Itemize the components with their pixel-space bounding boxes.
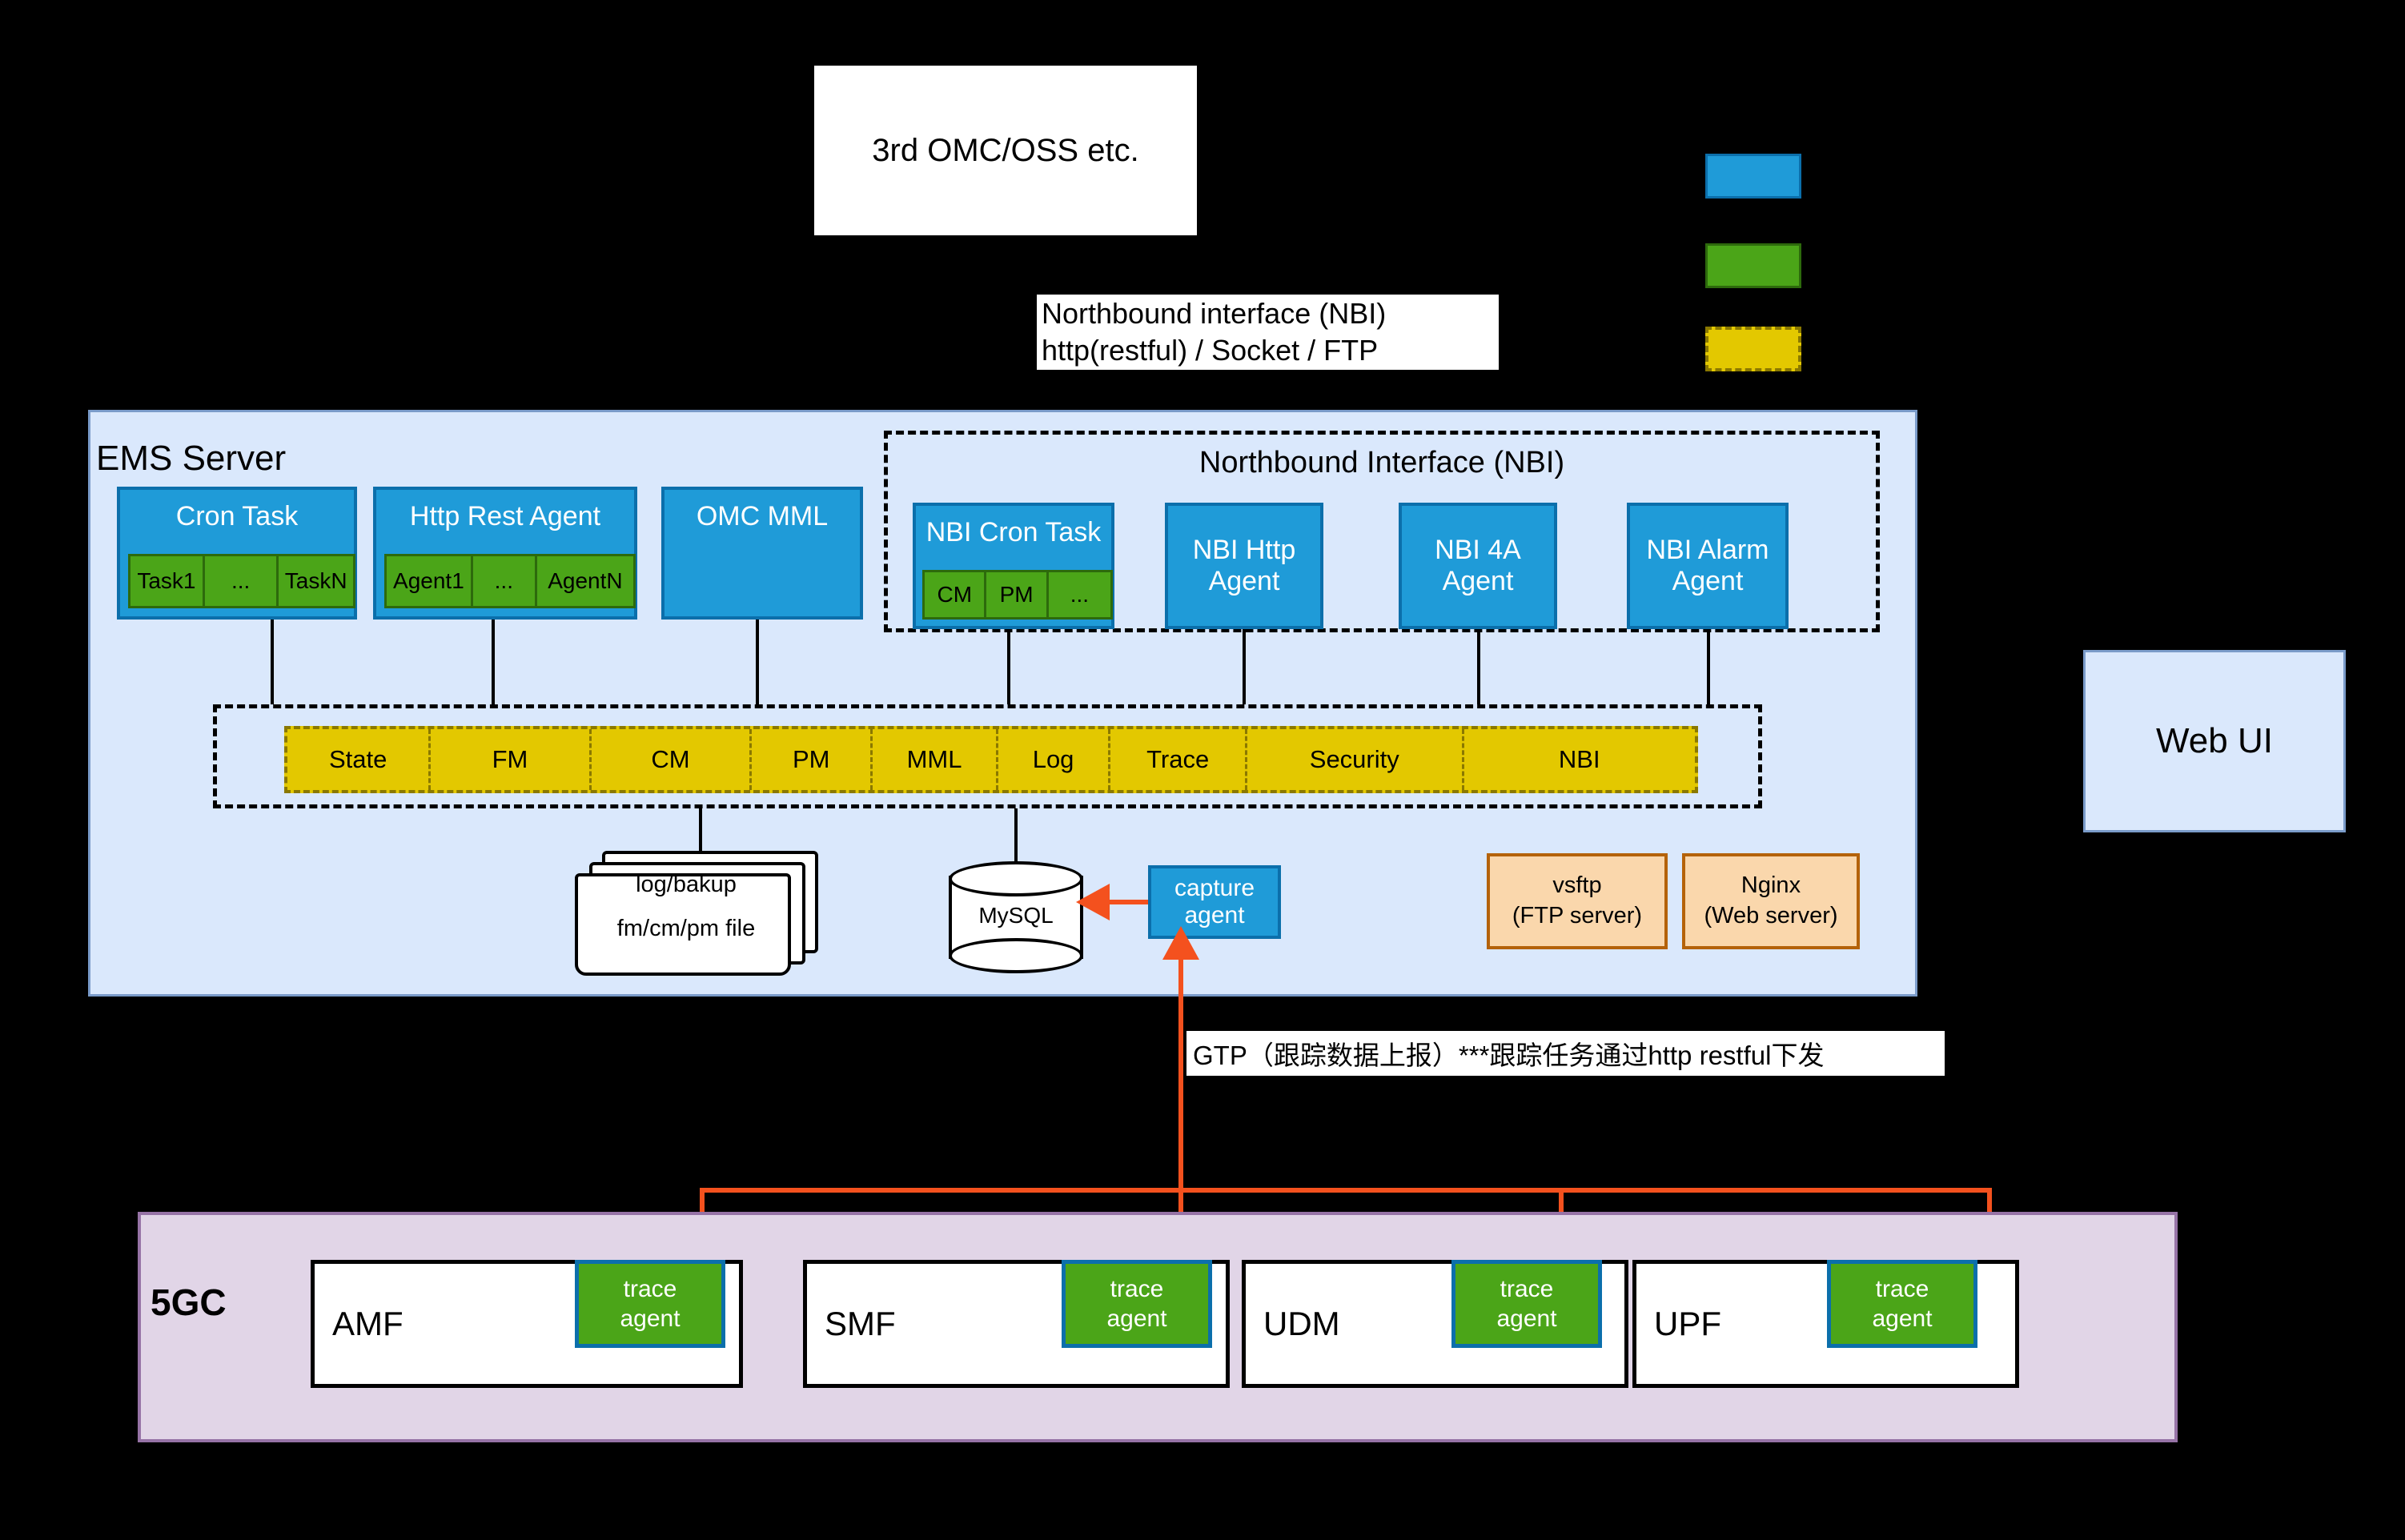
nbi-protocol-line2: http(restful) / Socket / FTP [1042, 332, 1378, 369]
capture-agent-line1: capture [1174, 875, 1255, 902]
component-nbi-http-agent-title-line2: Agent [1168, 566, 1320, 597]
cron-task-cell[interactable]: TaskN [279, 556, 353, 606]
http-rest-agent-cells: Agent1 ... AgentN [384, 554, 636, 608]
nginx-name: Nginx [1741, 871, 1801, 901]
file-storage-line2: fm/cm/pm file [617, 916, 755, 942]
file-storage-line1: log/bakup [636, 872, 737, 898]
capture-agent-line2: agent [1184, 902, 1244, 929]
service-cell-trace[interactable]: Trace [1110, 729, 1247, 790]
service-bus: State FM CM PM MML Log Trace Security NB… [284, 726, 1698, 793]
component-cron-task[interactable]: Cron Task Task1 ... TaskN [117, 487, 357, 620]
component-omc-mml[interactable]: OMC MML [661, 487, 863, 620]
cron-task-cell[interactable]: ... [205, 556, 279, 606]
web-ui-label: Web UI [2156, 721, 2273, 761]
legend-swatch-blue [1705, 154, 1801, 199]
http-rest-agent-cell[interactable]: AgentN [537, 556, 633, 606]
connector-nbi-http-agent-to-bus [1243, 629, 1246, 704]
trace-agent-line2: agent [1496, 1304, 1556, 1334]
http-rest-agent-cell[interactable]: Agent1 [387, 556, 473, 606]
connector-omcoss-to-nbi [1004, 235, 1007, 295]
component-nbi-alarm-agent[interactable]: NBI Alarm Agent [1627, 503, 1789, 629]
connector-bus-to-file-storage [699, 808, 702, 853]
ems-server-title: EMS Server [96, 439, 286, 479]
gtp-annotation: GTP（跟踪数据上报）***跟踪任务通过http restful下发 [1186, 1031, 1945, 1076]
vsftp-name: vsftp [1552, 871, 1601, 901]
trace-agent-line1: trace [1110, 1274, 1164, 1305]
third-party-omc-oss-box: 3rd OMC/OSS etc. [814, 66, 1197, 235]
service-cell-security[interactable]: Security [1247, 729, 1464, 790]
component-nbi-http-agent[interactable]: NBI Http Agent [1165, 503, 1323, 629]
trace-agent-line2: agent [1106, 1304, 1166, 1334]
cron-task-cell[interactable]: Task1 [130, 556, 205, 606]
component-nbi-alarm-agent-title-line2: Agent [1630, 566, 1785, 597]
trace-agent-upf[interactable]: trace agent [1827, 1260, 1977, 1348]
trace-agent-line2: agent [620, 1304, 680, 1334]
network-function-udm-label: UDM [1263, 1305, 1340, 1343]
service-bus-container: State FM CM PM MML Log Trace Security NB… [213, 704, 1762, 808]
component-nbi-alarm-agent-title-line1: NBI Alarm [1630, 535, 1785, 566]
arrowhead-capture-to-mysql [1076, 884, 1110, 920]
nbi-cron-task-cell[interactable]: PM [986, 572, 1048, 617]
component-nbi-4a-agent-title-line1: NBI 4A [1402, 535, 1554, 566]
gtp-annotation-text: GTP（跟踪数据上报）***跟踪任务通过http restful下发 [1193, 1034, 1824, 1073]
http-rest-agent-cell[interactable]: ... [473, 556, 537, 606]
arrow-capture-to-mysql [1103, 900, 1150, 904]
web-ui-box[interactable]: Web UI [2083, 650, 2346, 832]
network-function-upf-label: UPF [1654, 1305, 1721, 1343]
connector-nbi-cron-task-to-bus [1007, 629, 1010, 704]
component-nbi-4a-agent[interactable]: NBI 4A Agent [1399, 503, 1557, 629]
trace-agent-line2: agent [1872, 1304, 1932, 1334]
nbi-cron-task-cells: CM PM ... [922, 570, 1113, 620]
mysql-label: MySQL [949, 903, 1083, 928]
legend-swatch-green [1705, 243, 1801, 288]
legend-swatch-gold [1705, 327, 1801, 371]
network-function-smf-label: SMF [825, 1305, 896, 1343]
connector-omc-mml-to-bus [756, 620, 759, 704]
trace-agent-amf[interactable]: trace agent [575, 1260, 725, 1348]
nbi-group-title: Northbound Interface (NBI) [888, 446, 1876, 480]
connector-http-rest-agent-to-bus [492, 620, 495, 704]
trace-agent-line1: trace [624, 1274, 677, 1305]
cron-task-cells: Task1 ... TaskN [128, 554, 355, 608]
orange-bus-horizontal [700, 1188, 1992, 1193]
component-nbi-cron-task-title: NBI Cron Task [916, 517, 1111, 548]
component-omc-mml-title: OMC MML [664, 501, 860, 532]
connector-nbi-alarm-agent-to-bus [1707, 629, 1710, 704]
component-nbi-http-agent-title-line1: NBI Http [1168, 535, 1320, 566]
service-cell-nbi[interactable]: NBI [1464, 729, 1695, 790]
mysql-database: MySQL [949, 861, 1083, 973]
omc-oss-label: 3rd OMC/OSS etc. [872, 133, 1138, 169]
nbi-protocol-callout: Northbound interface (NBI) http(restful)… [1037, 295, 1499, 370]
trace-agent-line1: trace [1500, 1274, 1554, 1305]
vsftp-server[interactable]: vsftp (FTP server) [1487, 853, 1668, 949]
component-nbi-cron-task[interactable]: NBI Cron Task CM PM ... [913, 503, 1114, 629]
connector-cron-task-to-bus [271, 620, 274, 704]
network-function-amf-label: AMF [332, 1305, 404, 1343]
service-cell-mml[interactable]: MML [873, 729, 998, 790]
component-nbi-4a-agent-title-line2: Agent [1402, 566, 1554, 597]
component-http-rest-agent-title: Http Rest Agent [376, 501, 634, 532]
service-cell-state[interactable]: State [287, 729, 431, 790]
component-cron-task-title: Cron Task [120, 501, 354, 532]
fivegc-label: 5GC [151, 1281, 227, 1324]
file-storage-stack: log/bakup fm/cm/pm file [575, 851, 823, 969]
nbi-protocol-line1: Northbound interface (NBI) [1042, 295, 1386, 332]
nbi-cron-task-cell[interactable]: ... [1049, 572, 1110, 617]
arrowhead-trunk-to-capture [1162, 926, 1199, 960]
trace-agent-udm[interactable]: trace agent [1451, 1260, 1602, 1348]
nginx-server[interactable]: Nginx (Web server) [1682, 853, 1860, 949]
connector-bus-to-mysql [1014, 808, 1018, 864]
nginx-role: (Web server) [1704, 901, 1837, 932]
connector-nbi-4a-agent-to-bus [1477, 629, 1480, 704]
service-cell-cm[interactable]: CM [592, 729, 752, 790]
component-http-rest-agent[interactable]: Http Rest Agent Agent1 ... AgentN [373, 487, 637, 620]
service-cell-fm[interactable]: FM [431, 729, 591, 790]
nbi-cron-task-cell[interactable]: CM [925, 572, 986, 617]
trace-agent-line1: trace [1876, 1274, 1929, 1305]
service-cell-pm[interactable]: PM [752, 729, 873, 790]
service-cell-log[interactable]: Log [998, 729, 1111, 790]
vsftp-role: (FTP server) [1512, 901, 1642, 932]
trace-agent-smf[interactable]: trace agent [1062, 1260, 1212, 1348]
